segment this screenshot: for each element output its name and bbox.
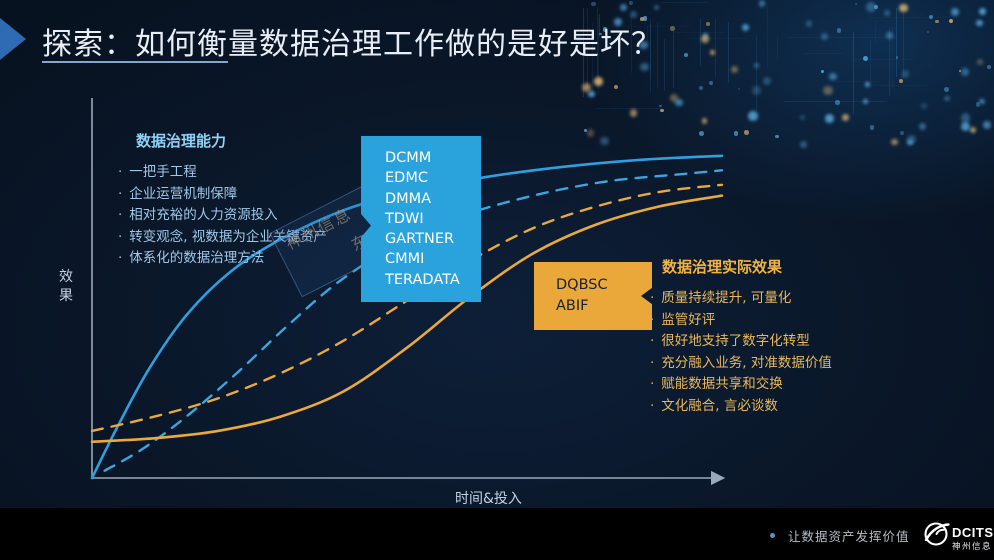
brand-sub-name: 神州信息 (952, 540, 992, 552)
models-callout-body: DQBSC ABIF (534, 262, 652, 330)
slide-canvas: 探索：如何衡量数据治理工作做的是好是坏？ 效果 时间&投入 数据治理能力 一把手… (0, 0, 994, 560)
effect-panel-list: 质量持续提升, 可量化 监管好评 很好地支持了数字化转型 充分融入业务, 对准数… (650, 288, 832, 417)
framework-item: GARTNER (385, 229, 467, 249)
list-item: 质量持续提升, 可量化 (650, 288, 832, 310)
list-item: 充分融入业务, 对准数据价值 (650, 353, 832, 375)
list-item: 监管好评 (650, 310, 832, 332)
model-item: ABIF (556, 296, 626, 317)
x-axis-label: 时间&投入 (455, 488, 522, 508)
title-underline (42, 61, 228, 63)
footer-tagline: 让数据资产发挥价值 (788, 526, 910, 545)
list-item: 转变观念, 视数据为企业关键资产 (118, 227, 327, 249)
framework-item: TERADATA (385, 270, 467, 290)
models-callout: DQBSC ABIF (534, 262, 652, 330)
model-item: DQBSC (556, 275, 626, 296)
slide-footer: 让数据资产发挥价值 DCITS 神州信息 (0, 508, 994, 560)
effect-panel: 数据治理实际效果 质量持续提升, 可量化 监管好评 很好地支持了数字化转型 充分… (650, 256, 832, 417)
framework-item: DCMM (385, 148, 467, 168)
title-arrow-icon (0, 18, 26, 60)
list-item: 很好地支持了数字化转型 (650, 331, 832, 353)
framework-item: TDWI (385, 209, 467, 229)
list-item: 体系化的数据治理方法 (118, 248, 327, 270)
capability-panel-heading: 数据治理能力 (118, 130, 327, 151)
slide-header: 探索：如何衡量数据治理工作做的是好是坏？ (0, 0, 994, 88)
footer-bullet-icon (770, 533, 775, 538)
list-item: 相对充裕的人力资源投入 (118, 205, 327, 227)
effect-panel-heading: 数据治理实际效果 (650, 256, 832, 277)
list-item: 赋能数据共享和交换 (650, 374, 832, 396)
list-item: 一把手工程 (118, 162, 327, 184)
list-item: 文化融合, 言必谈数 (650, 396, 832, 418)
framework-item: DMMA (385, 189, 467, 209)
list-item: 企业运营机制保障 (118, 184, 327, 206)
capability-panel-list: 一把手工程 企业运营机制保障 相对充裕的人力资源投入 转变观念, 视数据为企业关… (118, 162, 327, 270)
y-axis-label: 效果 (56, 268, 76, 306)
capability-panel: 数据治理能力 一把手工程 企业运营机制保障 相对充裕的人力资源投入 转变观念, … (118, 130, 327, 270)
frameworks-callout: DCMM EDMC DMMA TDWI GARTNER CMMI TERADAT… (361, 136, 481, 302)
page-title: 探索：如何衡量数据治理工作做的是好是坏？ (42, 19, 662, 63)
frameworks-callout-body: DCMM EDMC DMMA TDWI GARTNER CMMI TERADAT… (361, 136, 481, 302)
brand-name: DCITS (952, 525, 994, 540)
framework-item: EDMC (385, 168, 467, 188)
framework-item: CMMI (385, 249, 467, 269)
